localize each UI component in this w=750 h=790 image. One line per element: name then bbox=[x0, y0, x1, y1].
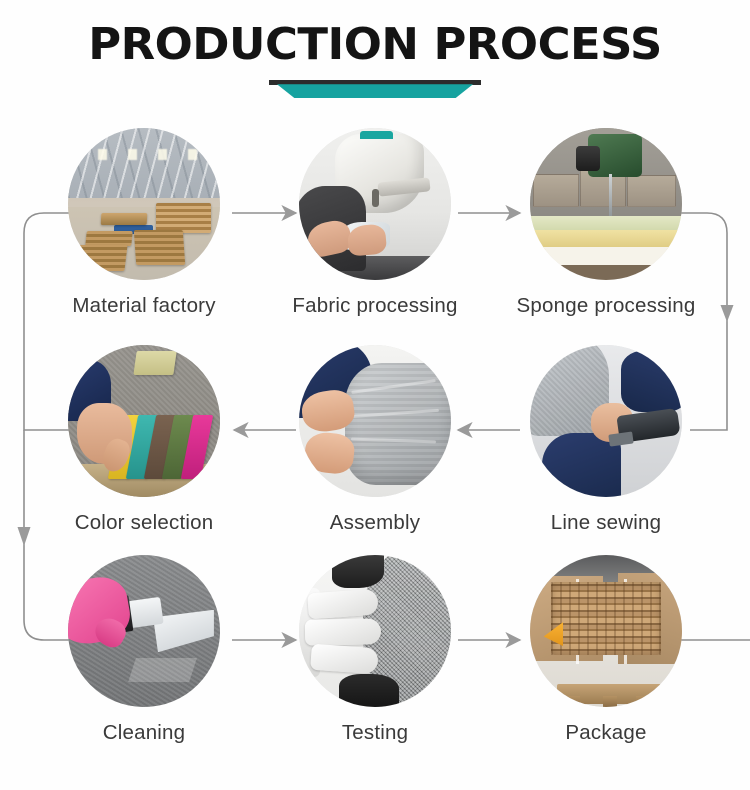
step-package[interactable]: Package bbox=[526, 555, 686, 745]
factory-warehouse-image bbox=[68, 128, 220, 280]
step-image-color-selection bbox=[68, 345, 220, 497]
step-label: Assembly bbox=[330, 511, 420, 535]
step-label: Testing bbox=[342, 721, 408, 745]
step-image-package bbox=[530, 555, 682, 707]
step-image-line-sewing bbox=[530, 345, 682, 497]
step-line-sewing[interactable]: Line sewing bbox=[526, 345, 686, 535]
step-label: Color selection bbox=[75, 511, 214, 535]
step-material-factory[interactable]: Material factory bbox=[64, 128, 224, 318]
step-image-testing bbox=[299, 555, 451, 707]
step-testing[interactable]: Testing bbox=[295, 555, 455, 745]
step-image-fabric-processing bbox=[299, 128, 451, 280]
production-process-infographic: PRODUCTION PROCESS bbox=[0, 0, 750, 790]
fabric-swatches-image bbox=[68, 345, 220, 497]
folded-fabric-image bbox=[299, 345, 451, 497]
pink-glove-extractor-image bbox=[68, 555, 220, 707]
step-image-assembly bbox=[299, 345, 451, 497]
process-row-2: Color selection Assembly Line sewing bbox=[0, 345, 750, 535]
step-image-material-factory bbox=[68, 128, 220, 280]
sewing-machine-image bbox=[299, 128, 451, 280]
page-title: PRODUCTION PROCESS bbox=[0, 22, 750, 68]
step-label: Fabric processing bbox=[292, 294, 457, 318]
process-row-1: Material factory Fabric processing bbox=[0, 128, 750, 318]
step-label: Material factory bbox=[72, 294, 215, 318]
step-label: Line sewing bbox=[551, 511, 661, 535]
step-image-sponge-processing bbox=[530, 128, 682, 280]
foam-cutting-image bbox=[530, 128, 682, 280]
step-label: Cleaning bbox=[103, 721, 186, 745]
process-row-3: Cleaning Testing bbox=[0, 555, 750, 745]
step-sponge-processing[interactable]: Sponge processing bbox=[526, 128, 686, 318]
step-label: Sponge processing bbox=[517, 294, 696, 318]
step-color-selection[interactable]: Color selection bbox=[64, 345, 224, 535]
header: PRODUCTION PROCESS bbox=[0, 22, 750, 98]
cardboard-pallet-image bbox=[530, 555, 682, 707]
step-image-cleaning bbox=[68, 555, 220, 707]
step-cleaning[interactable]: Cleaning bbox=[64, 555, 224, 745]
underline-accent-trapezoid bbox=[277, 84, 473, 98]
step-assembly[interactable]: Assembly bbox=[295, 345, 455, 535]
stapler-gun-image bbox=[530, 345, 682, 497]
step-label: Package bbox=[565, 721, 646, 745]
white-gloves-image bbox=[299, 555, 451, 707]
step-fabric-processing[interactable]: Fabric processing bbox=[295, 128, 455, 318]
title-underline-decoration bbox=[269, 80, 481, 98]
